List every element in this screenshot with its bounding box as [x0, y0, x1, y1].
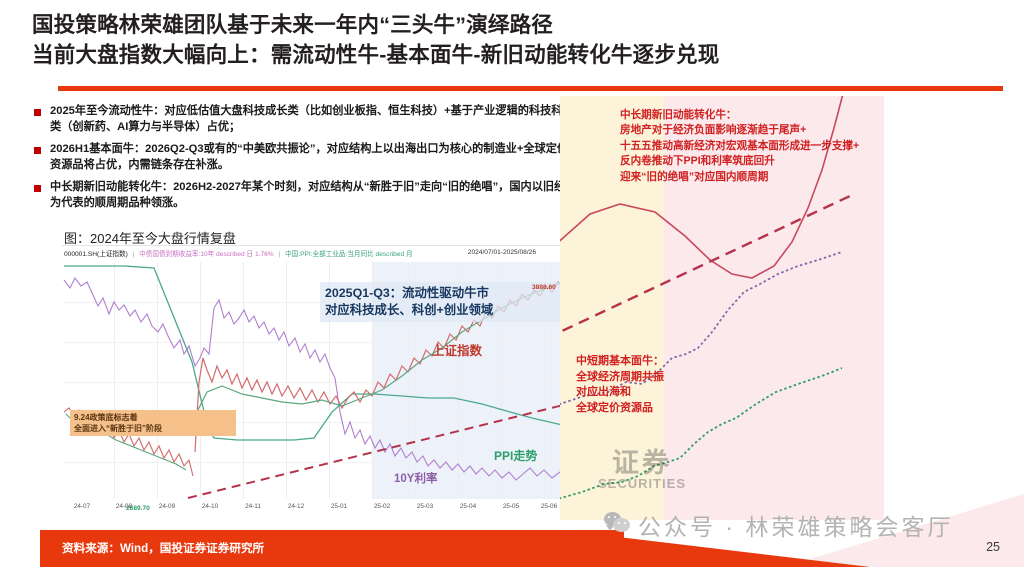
bullet-square-icon — [34, 147, 41, 154]
source-text: 资料来源：Wind，国投证券证券研究所 — [62, 540, 264, 556]
page-title: 国投策略林荣雄团队基于未来一年内“三头牛”演绎路径 当前大盘指数大幅向上：需流动… — [32, 10, 1012, 70]
annotation-blue-box: 2025Q1-Q3：流动性驱动牛市 对应科技成长、科创+创业领域 — [320, 282, 566, 322]
forecast-mid-line-2: 全球经济周期共振 — [576, 370, 796, 386]
series-annotation-rate: 10Y利率 — [394, 470, 437, 486]
forecast-long-line-1: 中长期新旧动能转化牛： — [620, 108, 920, 123]
chart-x-axis: 24-07 24-08 24-09 24-10 24-11 24-12 25-0… — [62, 499, 624, 521]
public-account-label: 公众号 · 林荣雄策略会客厅 — [638, 508, 953, 542]
bullet-square-icon — [34, 185, 41, 192]
bullet-text: 2025年至今流动性牛：对应低估值大盘科技成长类（比如创业板指、恒生科技）+基于… — [50, 104, 579, 135]
source-bar: 资料来源：Wind，国投证券证券研究所 — [40, 530, 624, 567]
bullet-text: 中长期新旧动能转化牛：2026H2-2027年某个时刻，对应结构从“新胜于旧”走… — [50, 180, 579, 211]
list-item: 中长期新旧动能转化牛：2026H2-2027年某个时刻，对应结构从“新胜于旧”走… — [34, 180, 579, 211]
x-tick: 25-04 — [460, 503, 476, 510]
series-annotation-ppi: PPI走势 — [494, 447, 537, 464]
annotation-blue-line-1: 2025Q1-Q3：流动性驱动牛市 — [325, 285, 561, 302]
series-separator: | — [133, 251, 135, 258]
series-annotation-index: 上证指数 — [432, 340, 482, 359]
series-separator: | — [279, 251, 281, 258]
title-underline-rule — [58, 86, 1003, 91]
chart-plot-area: 2025Q1-Q3：流动性驱动牛市 对应科技成长、科创+创业领域 3888.60… — [62, 262, 624, 499]
title-line-1: 国投策略林荣雄团队基于未来一年内“三头牛”演绎路径 — [32, 10, 1012, 40]
annotation-orange-line-1: 9.24政策底标志着 — [74, 412, 232, 423]
annotation-blue-line-2: 对应科技成长、科创+创业领域 — [325, 302, 561, 319]
series-label-ppi: 中国:PPI:全部工业品:当月同比 described 月 — [285, 251, 413, 258]
bullet-text: 2026H1基本面牛：2026Q2-Q3或有的“中美欧共振论”，对应结构上以出海… — [50, 142, 579, 173]
x-tick: 24-09 — [159, 503, 175, 510]
chart-series-header: 000001.SH(上证指数) | 中债国债到期收益率:10年 describe… — [64, 248, 622, 261]
title-line-2: 当前大盘指数大幅向上：需流动性牛-基本面牛-新旧动能转化牛逐步兑现 — [32, 40, 1012, 70]
x-tick: 24-07 — [74, 503, 90, 510]
forecast-mid-line-1: 中短期基本面牛： — [576, 354, 796, 370]
forecast-long-line-3: 十五五推动高新经济对宏观基本面形成进一步支撑+ — [620, 139, 920, 154]
page-number: 25 — [986, 540, 1000, 554]
watermark-en: SECURITIES — [560, 476, 752, 491]
series-label-index: 000001.SH(上证指数) — [64, 251, 128, 258]
x-tick: 24-11 — [245, 503, 261, 510]
annotation-orange-box: 9.24政策底标志着 全面进入“新胜于旧”阶段 — [70, 410, 236, 436]
x-tick: 24-10 — [202, 503, 218, 510]
watermark-cn: 证券 — [560, 441, 752, 480]
wechat-icon — [604, 512, 630, 534]
value-label-high: 3888.60 — [532, 284, 556, 291]
forecast-long-line-4: 反内卷推动下PPI和利率筑底回升 — [620, 154, 920, 169]
x-tick: 25-01 — [331, 503, 347, 510]
bullet-square-icon — [34, 109, 41, 116]
market-review-chart: 000001.SH(上证指数) | 中债国债到期收益率:10年 describe… — [62, 245, 624, 521]
forecast-mid-term-text: 中短期基本面牛： 全球经济周期共振 对应出海和 全球定价资源品 — [576, 354, 796, 416]
forecast-mid-line-3: 对应出海和 — [576, 385, 796, 401]
x-tick: 25-05 — [503, 503, 519, 510]
bullet-list: 2025年至今流动性牛：对应低估值大盘科技成长类（比如创业板指、恒生科技）+基于… — [34, 104, 579, 218]
forecast-panel: 中长期新旧动能转化牛： 房地产对于经济负面影响逐渐趋于尾声+ 十五五推动高新经济… — [560, 96, 978, 520]
x-tick: 25-02 — [374, 503, 390, 510]
series-label-bond: 中债国债到期收益率:10年 described 日 1.76% — [139, 251, 273, 258]
list-item: 2026H1基本面牛：2026Q2-Q3或有的“中美欧共振论”，对应结构上以出海… — [34, 142, 579, 173]
forecast-long-line-2: 房地产对于经济负面影响逐渐趋于尾声+ — [620, 123, 920, 138]
chart-date-range: 2024/07/01-2025/08/26 — [468, 249, 536, 256]
forecast-long-term-text: 中长期新旧动能转化牛： 房地产对于经济负面影响逐渐趋于尾声+ 十五五推动高新经济… — [620, 108, 920, 185]
x-tick: 25-03 — [417, 503, 433, 510]
x-tick: 24-08 — [116, 503, 132, 510]
x-tick: 24-12 — [288, 503, 304, 510]
annotation-orange-line-2: 全面进入“新胜于旧”阶段 — [74, 423, 232, 434]
slide: 国投策略林荣雄团队基于未来一年内“三头牛”演绎路径 当前大盘指数大幅向上：需流动… — [0, 0, 1024, 567]
watermark: 证券 SECURITIES — [560, 441, 752, 491]
forecast-trend-dashed — [560, 196, 850, 346]
list-item: 2025年至今流动性牛：对应低估值大盘科技成长类（比如创业板指、恒生科技）+基于… — [34, 104, 579, 135]
forecast-mid-line-4: 全球定价资源品 — [576, 401, 796, 417]
x-tick: 25-06 — [541, 503, 557, 510]
forecast-long-line-5: 迎来“旧的绝唱”对应国内顺周期 — [620, 170, 920, 185]
